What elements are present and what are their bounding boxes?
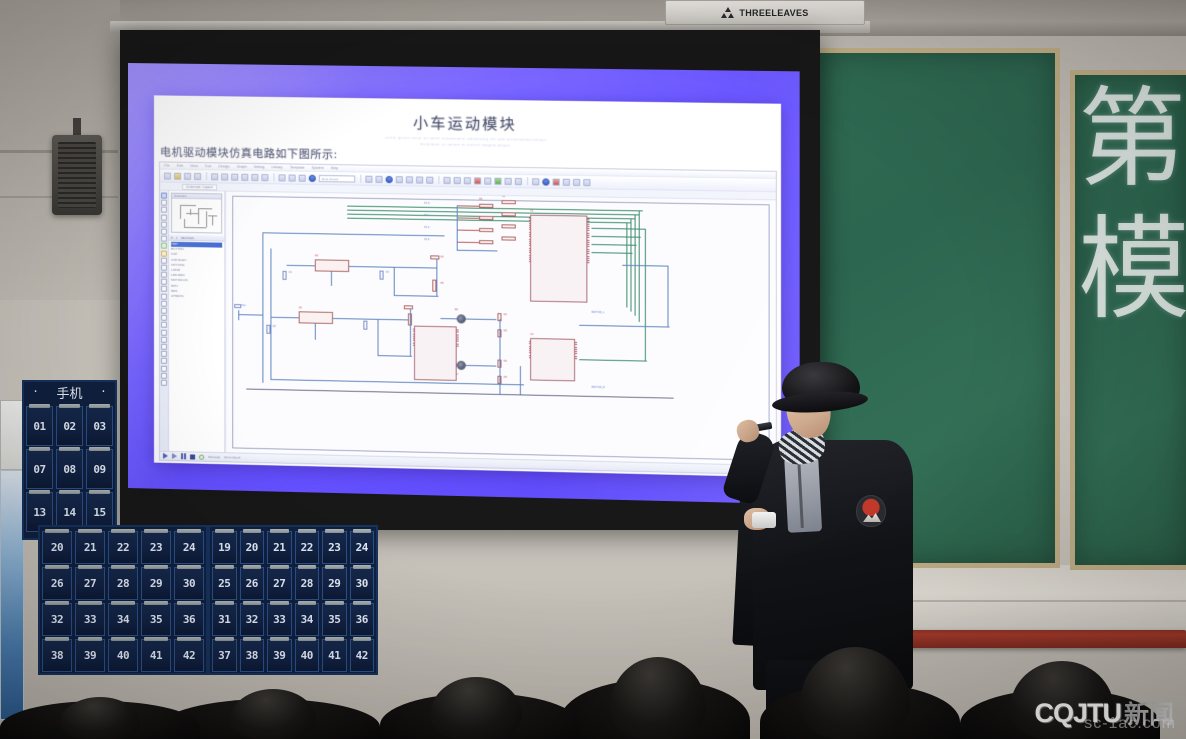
pocket-number: 37 (218, 649, 230, 662)
pocket-cell: 33 (267, 603, 292, 636)
pocket-number: 07 (33, 463, 45, 476)
pocket-cell: 29 (141, 567, 171, 600)
phone-pocket-board-top: · 手机 · 01 02 03 07 08 09 13 14 15 (22, 380, 117, 540)
chalk-character-2: 模 (1078, 214, 1186, 326)
pocket-number: 36 (183, 613, 195, 626)
pocket-cell: 21 (75, 531, 105, 564)
pocket-cell: 03 (86, 406, 113, 446)
pocket-cell: 26 (42, 567, 72, 600)
pocket-number: 28 (117, 577, 129, 590)
pocket-cell: 23 (141, 531, 171, 564)
pocket-grid-left: 20 21 22 23 24 26 27 28 29 30 32 33 34 3… (42, 531, 204, 672)
pocket-cell: 27 (75, 567, 105, 600)
pocket-number: 34 (117, 613, 129, 626)
pocket-cell: 27 (267, 567, 292, 600)
pocket-number: 01 (33, 420, 45, 433)
pocket-number: 33 (273, 613, 285, 626)
watermark-url: sc-1ac.com (1084, 715, 1176, 733)
projected-slide: 小车运动模块 Lorem ipsum dolor sit amet consec… (128, 63, 800, 504)
pocket-cell: 29 (322, 567, 347, 600)
pocket-cell: 35 (322, 603, 347, 636)
pocket-number: 26 (246, 577, 258, 590)
pocket-number: 28 (301, 577, 313, 590)
classroom-scene: 第 模 THREELEAVES 小车运动模块 Lorem ipsum dolor… (0, 0, 1186, 739)
pocket-cell: 42 (350, 639, 375, 672)
pocket-cell: 35 (141, 603, 171, 636)
pocket-header-dot-2: · (101, 385, 105, 400)
pocket-cell: 22 (295, 531, 320, 564)
phone-pocket-board-left: 20 21 22 23 24 26 27 28 29 30 32 33 34 3… (38, 525, 208, 675)
pocket-number: 39 (273, 649, 285, 662)
pocket-number: 22 (301, 541, 313, 554)
pocket-number: 15 (93, 506, 105, 519)
slide-screen-glare (128, 63, 800, 504)
pocket-number: 42 (183, 649, 195, 662)
pocket-cell: 41 (322, 639, 347, 672)
pocket-number: 29 (328, 577, 340, 590)
wall-poster (0, 470, 24, 720)
pocket-number: 41 (328, 649, 340, 662)
pocket-number: 38 (51, 649, 63, 662)
pocket-number: 13 (33, 506, 45, 519)
mitsubishi-three-diamonds-icon (721, 7, 734, 19)
pocket-number: 40 (117, 649, 129, 662)
pocket-cell: 31 (212, 603, 237, 636)
pocket-number: 19 (218, 541, 230, 554)
pocket-cell: 39 (75, 639, 105, 672)
pocket-cell: 07 (26, 449, 53, 489)
pocket-cell: 40 (295, 639, 320, 672)
pocket-number: 24 (356, 541, 368, 554)
pocket-cell: 26 (240, 567, 265, 600)
pocket-cell: 39 (267, 639, 292, 672)
pocket-number: 02 (63, 420, 75, 433)
pocket-number: 32 (51, 613, 63, 626)
pocket-cell: 38 (42, 639, 72, 672)
pocket-number: 20 (246, 541, 258, 554)
pocket-cell: 20 (240, 531, 265, 564)
pocket-header-dot-1: · (33, 385, 37, 400)
pocket-number: 33 (84, 613, 96, 626)
pocket-number: 38 (246, 649, 258, 662)
pocket-number: 36 (356, 613, 368, 626)
pocket-number: 35 (328, 613, 340, 626)
pocket-cell: 34 (108, 603, 138, 636)
pocket-number: 21 (84, 541, 96, 554)
pocket-cell: 34 (295, 603, 320, 636)
pocket-cell: 09 (86, 449, 113, 489)
pocket-number: 42 (356, 649, 368, 662)
pocket-cell: 42 (174, 639, 204, 672)
pocket-number: 24 (183, 541, 195, 554)
chalk-character-1: 第 (1078, 86, 1186, 194)
pocket-number: 09 (93, 463, 105, 476)
projector-screen-housing: THREELEAVES (665, 0, 865, 25)
pocket-number: 39 (84, 649, 96, 662)
pocket-cell: 37 (212, 639, 237, 672)
pocket-number: 41 (150, 649, 162, 662)
jacket-patch (856, 495, 886, 527)
pocket-number: 20 (51, 541, 63, 554)
projector-brand-label: THREELEAVES (739, 8, 808, 18)
pocket-cell: 08 (56, 449, 83, 489)
presentation-remote (752, 512, 776, 528)
pocket-cell: 02 (56, 406, 83, 446)
pocket-cell: 24 (350, 531, 375, 564)
pocket-number: 25 (218, 577, 230, 590)
pocket-cell: 40 (108, 639, 138, 672)
pocket-number: 35 (150, 613, 162, 626)
phone-pocket-board-header: · 手机 · (24, 382, 115, 402)
pocket-cell: 22 (108, 531, 138, 564)
pocket-number: 34 (301, 613, 313, 626)
pocket-cell: 23 (322, 531, 347, 564)
pocket-header-label: 手机 (56, 383, 82, 402)
phone-pocket-board-right: 19 20 21 22 23 24 25 26 27 28 29 30 31 3… (208, 525, 378, 675)
pocket-cell: 36 (174, 603, 204, 636)
pocket-cell: 28 (108, 567, 138, 600)
pocket-grid-top: 01 02 03 07 08 09 13 14 15 (26, 406, 113, 532)
pocket-cell: 20 (42, 531, 72, 564)
pocket-number: 27 (84, 577, 96, 590)
pocket-number: 23 (150, 541, 162, 554)
pocket-cell: 01 (26, 406, 53, 446)
pocket-number: 40 (301, 649, 313, 662)
pocket-number: 32 (246, 613, 258, 626)
pocket-cell: 32 (240, 603, 265, 636)
pocket-number: 03 (93, 420, 105, 433)
pocket-cell: 41 (141, 639, 171, 672)
wall-speaker (52, 135, 102, 215)
pocket-number: 30 (356, 577, 368, 590)
pocket-cell: 38 (240, 639, 265, 672)
pocket-cell: 30 (350, 567, 375, 600)
pocket-cell: 33 (75, 603, 105, 636)
pocket-cell: 19 (212, 531, 237, 564)
pocket-number: 14 (63, 506, 75, 519)
pocket-cell: 21 (267, 531, 292, 564)
pocket-cell: 30 (174, 567, 204, 600)
pocket-cell: 36 (350, 603, 375, 636)
pocket-cell: 24 (174, 531, 204, 564)
pocket-number: 26 (51, 577, 63, 590)
pocket-number: 21 (273, 541, 285, 554)
pocket-cell: 28 (295, 567, 320, 600)
pocket-number: 22 (117, 541, 129, 554)
pocket-grid-right: 19 20 21 22 23 24 25 26 27 28 29 30 31 3… (212, 531, 374, 672)
pocket-cell: 32 (42, 603, 72, 636)
pocket-number: 31 (218, 613, 230, 626)
pocket-cell: 25 (212, 567, 237, 600)
pocket-number: 23 (328, 541, 340, 554)
pocket-number: 29 (150, 577, 162, 590)
pocket-number: 27 (273, 577, 285, 590)
pocket-number: 30 (183, 577, 195, 590)
pocket-number: 08 (63, 463, 75, 476)
